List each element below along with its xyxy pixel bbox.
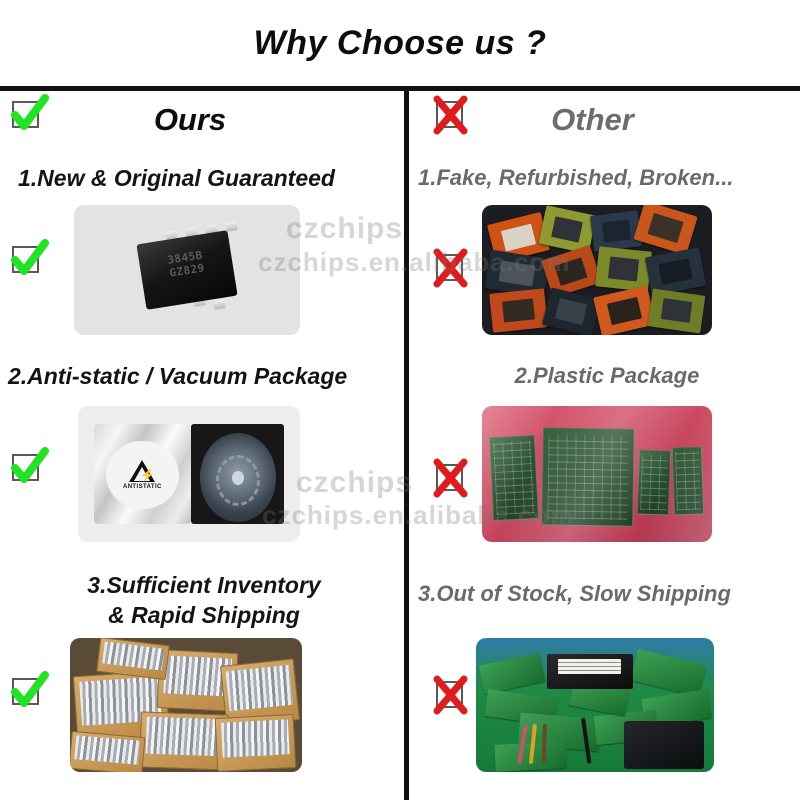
cross-glyph [432,248,474,288]
green-check-icon [8,672,48,712]
page-title: Why Choose us ? [254,24,547,63]
cross-glyph [432,675,474,715]
comparison-infographic: Why Choose us ? Ours Other 1.New & Origi… [0,0,800,800]
antistatic-package-photo: ⚡ ANTISTATIC [78,406,300,542]
red-cross-icon [432,248,472,288]
plastic-sheen [482,406,712,542]
check-glyph [8,672,50,712]
ic-chip-photo: 3845B GZ829 [74,205,300,335]
module-label [558,659,621,674]
column-header-ours: Ours [0,91,404,149]
row-3-other-text: 3.Out of Stock, Slow Shipping [418,581,796,607]
watermark-brand-mid: czchips [296,466,413,500]
black-module [547,654,633,689]
reel-disc [200,433,276,522]
antistatic-label-text: ANTISTATIC [123,484,162,490]
row-3-ours-text-line-2: & Rapid Shipping [108,602,300,628]
red-cross-icon [432,95,472,135]
cross-glyph [432,458,474,498]
row-2-other-text: 2.Plastic Package [418,363,796,389]
row-2-ours-text: 2.Anti-static / Vacuum Package [8,363,400,390]
stock-boxes-photo [70,638,302,772]
pcb-scrap-photo [476,638,714,772]
antistatic-bag: ⚡ ANTISTATIC [94,424,192,525]
esd-warning-label: ⚡ ANTISTATIC [106,441,178,509]
row-3-ours-text: 3.Sufficient Inventory & Rapid Shipping [8,570,400,630]
green-check-icon [8,448,48,488]
watermark-brand-top: czchips [286,212,403,246]
black-panel [624,721,705,769]
title-bar: Why Choose us ? [0,0,800,86]
row-1-ours-text: 1.New & Original Guaranteed [18,165,390,192]
esd-warning-triangle-icon: ⚡ [129,460,155,482]
scrap-chips-photo [482,205,712,335]
cross-glyph [432,95,474,135]
check-glyph [8,448,50,488]
red-cross-icon [432,458,472,498]
component-reel [191,424,284,525]
chip-body: 3845B GZ829 [136,230,237,310]
column-label-ours: Ours [0,102,392,138]
check-glyph [8,240,50,280]
check-glyph [8,95,50,135]
green-check-icon [8,95,48,135]
row-3-ours-text-line-1: 3.Sufficient Inventory [87,572,320,598]
green-check-icon [8,240,48,280]
column-divider-rule [404,91,409,800]
red-cross-icon [432,675,472,715]
row-1-other-text: 1.Fake, Refurbished, Broken... [418,165,796,191]
plastic-package-photo [482,406,712,542]
lightning-bolt-icon: ⚡ [140,469,155,481]
